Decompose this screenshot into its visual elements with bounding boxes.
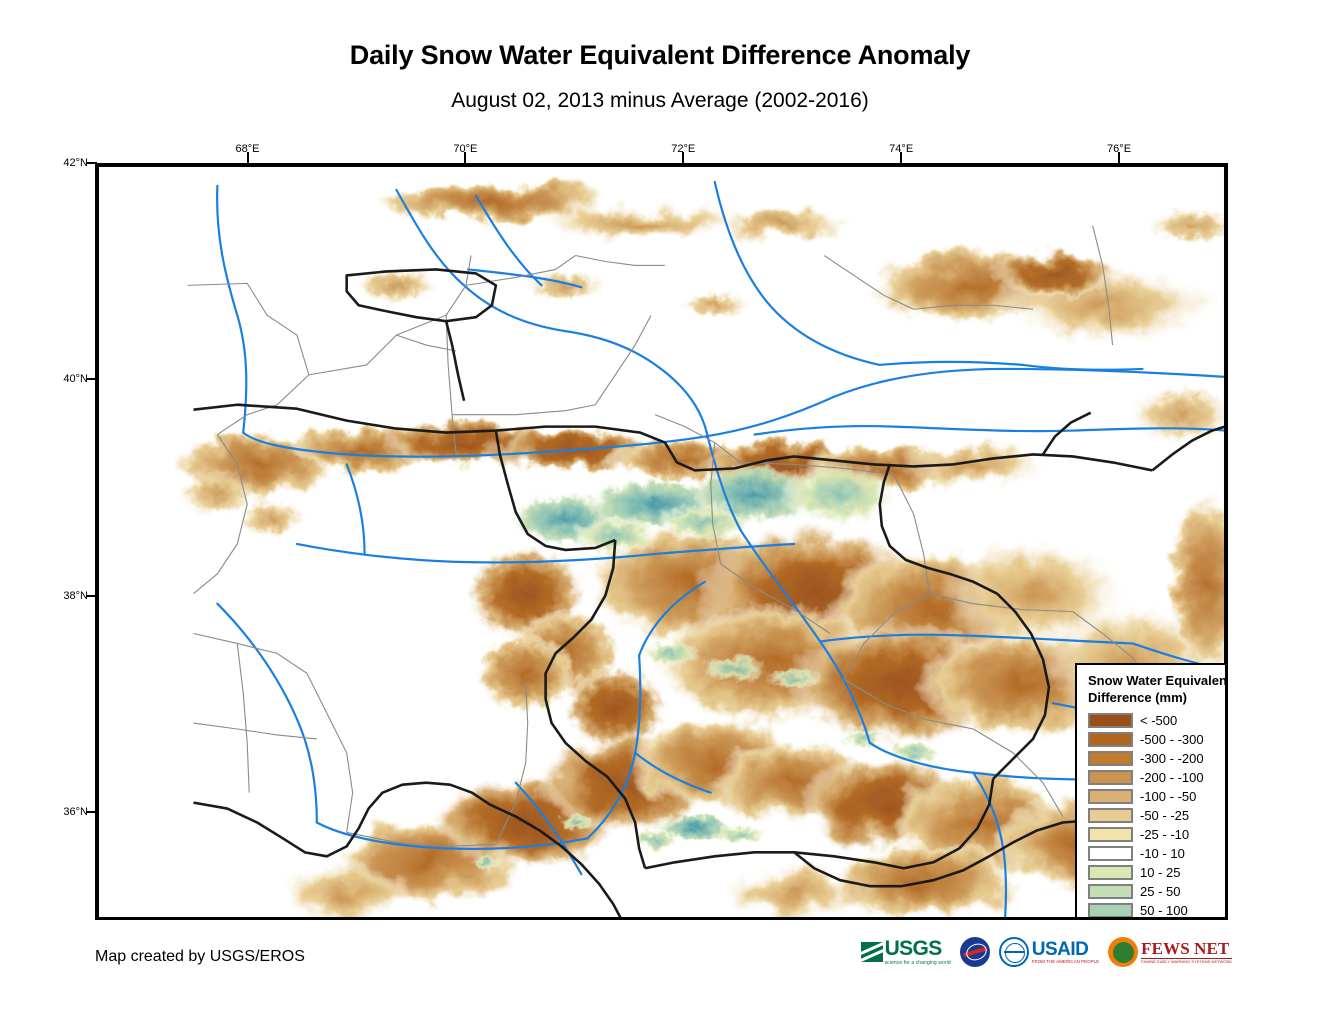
legend-row: -500 - -300 [1088, 730, 1228, 749]
map-frame[interactable]: Snow Water Equivalent Difference (mm) < … [95, 163, 1228, 920]
legend-row: -50 - -25 [1088, 806, 1228, 825]
map-credit: Map created by USGS/EROS [95, 948, 305, 966]
usaid-seal-icon [999, 937, 1029, 967]
legend-class-list: < -500-500 - -300-300 - -200-200 - -100-… [1088, 711, 1228, 920]
legend-row: -200 - -100 [1088, 768, 1228, 787]
legend-swatch [1088, 713, 1133, 728]
legend-row: -25 - -10 [1088, 825, 1228, 844]
latitude-tick-label: 36°N [52, 806, 88, 818]
title-block: Daily Snow Water Equivalent Difference A… [0, 0, 1320, 113]
legend-row: -10 - 10 [1088, 844, 1228, 863]
usaid-wordmark: USAID [1032, 940, 1099, 959]
latitude-tick-label: 40°N [52, 373, 88, 385]
legend-swatch [1088, 903, 1133, 918]
fews-wordmark: FEWS NET [1141, 940, 1232, 957]
legend-label: -100 - -50 [1140, 789, 1196, 804]
legend-label: -300 - -200 [1140, 751, 1204, 766]
legend-swatch [1088, 789, 1133, 804]
legend-swatch [1088, 751, 1133, 766]
fews-globe-icon [1108, 937, 1138, 967]
legend-label: -50 - -25 [1140, 808, 1189, 823]
nasa-meatball-icon [960, 937, 990, 967]
legend-title: Snow Water Equivalent Difference (mm) [1088, 673, 1228, 706]
legend-swatch [1088, 827, 1133, 842]
page-subtitle: August 02, 2013 minus Average (2002-2016… [0, 89, 1320, 113]
longitude-tick-mark [1118, 152, 1120, 163]
usaid-tagline: FROM THE AMERICAN PEOPLE [1032, 960, 1099, 965]
longitude-tick-mark [247, 152, 249, 163]
legend-label: -200 - -100 [1140, 770, 1204, 785]
usgs-wave-icon [861, 942, 883, 962]
legend-label: -10 - 10 [1140, 846, 1185, 861]
map-legend: Snow Water Equivalent Difference (mm) < … [1075, 663, 1228, 920]
legend-row: -300 - -200 [1088, 749, 1228, 768]
legend-swatch [1088, 846, 1133, 861]
fews-tagline: FAMINE EARLY WARNING SYSTEMS NETWORK [1141, 960, 1232, 964]
legend-swatch [1088, 865, 1133, 880]
page-title: Daily Snow Water Equivalent Difference A… [0, 40, 1320, 71]
legend-row: < -500 [1088, 711, 1228, 730]
legend-row: 10 - 25 [1088, 863, 1228, 882]
legend-row: -100 - -50 [1088, 787, 1228, 806]
legend-swatch [1088, 808, 1133, 823]
nasa-logo [960, 937, 990, 967]
legend-swatch [1088, 884, 1133, 899]
usgs-wordmark: USGS [885, 938, 951, 959]
usgs-logo: USGS science for a changing world [861, 938, 951, 966]
usgs-tagline: science for a changing world [885, 960, 951, 966]
longitude-tick-mark [682, 152, 684, 163]
legend-label: < -500 [1140, 713, 1177, 728]
fews-net-logo: FEWS NET FAMINE EARLY WARNING SYSTEMS NE… [1108, 937, 1232, 967]
legend-label: 25 - 50 [1140, 884, 1180, 899]
legend-swatch [1088, 770, 1133, 785]
legend-row: 25 - 50 [1088, 882, 1228, 901]
legend-label: -25 - -10 [1140, 827, 1189, 842]
latitude-tick-label: 42°N [52, 157, 88, 169]
usaid-logo: USAID FROM THE AMERICAN PEOPLE [999, 937, 1099, 967]
longitude-tick-mark [900, 152, 902, 163]
legend-label: 50 - 100 [1140, 903, 1188, 918]
legend-label: 10 - 25 [1140, 865, 1180, 880]
longitude-tick-mark [464, 152, 466, 163]
legend-swatch [1088, 732, 1133, 747]
legend-row: 50 - 100 [1088, 901, 1228, 920]
legend-label: -500 - -300 [1140, 732, 1204, 747]
latitude-tick-label: 38°N [52, 590, 88, 602]
map-canvas[interactable] [98, 166, 1225, 919]
logo-bar: USGS science for a changing world USAID … [861, 934, 1232, 970]
